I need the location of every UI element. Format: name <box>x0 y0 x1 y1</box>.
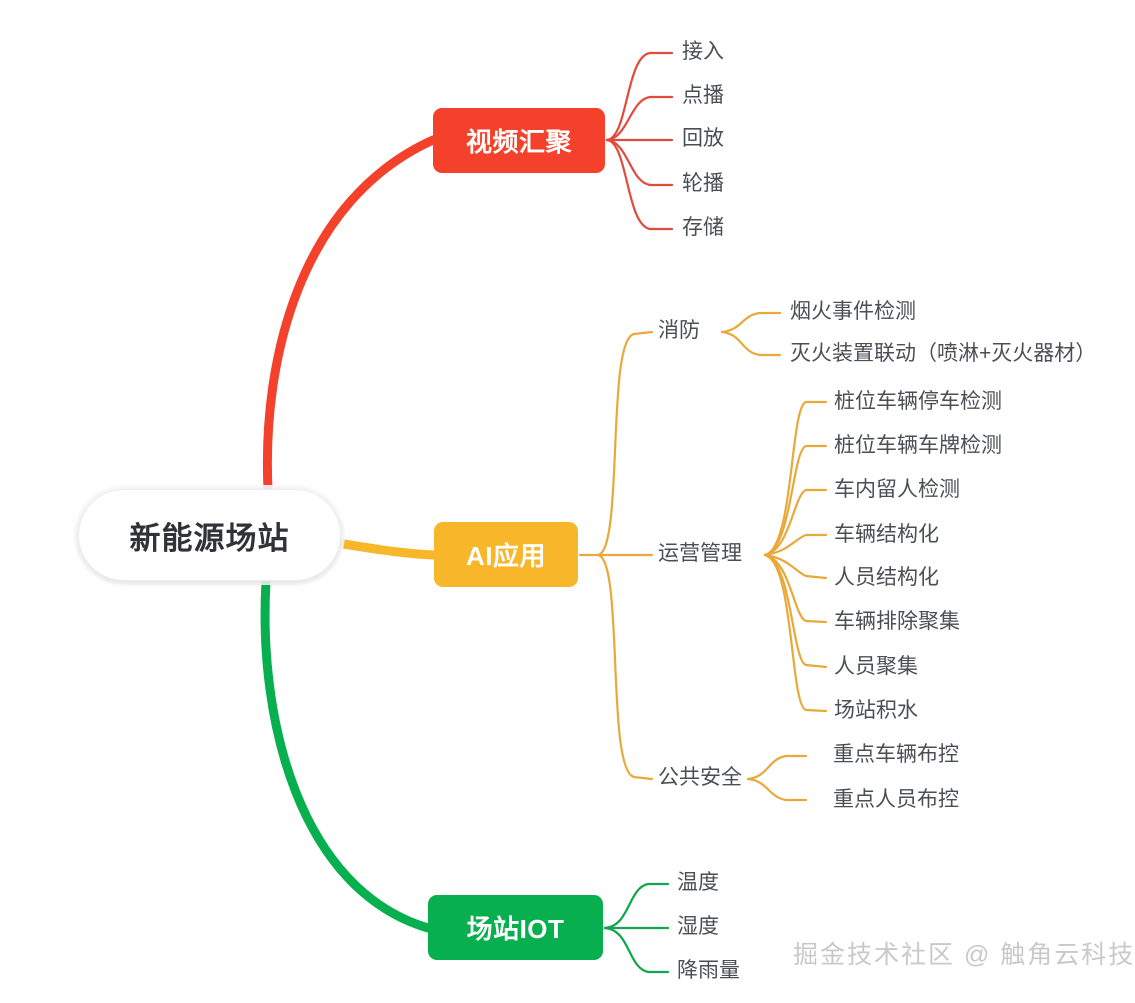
leaf-ops-vehicle-crowding[interactable]: 车辆排除聚集 <box>834 611 960 632</box>
connector-group-ops <box>765 402 826 711</box>
leaf-ops-person-crowding[interactable]: 人员聚集 <box>834 656 918 677</box>
leaf-video-carousel[interactable]: 轮播 <box>682 173 724 194</box>
root-node-label: 新能源场站 <box>130 513 290 558</box>
connector-group-iot <box>605 884 668 972</box>
leaf-ops-person-structuring[interactable]: 人员结构化 <box>834 567 939 588</box>
leaf-iot-humidity[interactable]: 湿度 <box>677 916 719 937</box>
connector-group-publicsafety <box>748 756 806 800</box>
leaf-ops-stall-plate-detection[interactable]: 桩位车辆车牌检测 <box>834 435 1002 456</box>
leaf-fire-suppression-link[interactable]: 灭火装置联动（喷淋+灭火器材） <box>790 343 1096 364</box>
branch-node-video-label: 视频汇聚 <box>466 122 572 159</box>
node-ai-public-safety[interactable]: 公共安全 <box>658 767 742 788</box>
leaf-safety-key-vehicle-control[interactable]: 重点车辆布控 <box>833 744 959 765</box>
branch-node-iot[interactable]: 场站IOT <box>428 895 603 960</box>
leaf-ops-in-car-person-detection[interactable]: 车内留人检测 <box>834 479 960 500</box>
leaf-fire-smoke-detection[interactable]: 烟火事件检测 <box>790 301 916 322</box>
connector-root-to-video <box>267 140 433 489</box>
branch-node-ai[interactable]: AI应用 <box>434 522 578 587</box>
leaf-video-vod[interactable]: 点播 <box>682 85 724 106</box>
leaf-safety-key-person-control[interactable]: 重点人员布控 <box>833 789 959 810</box>
branch-node-iot-label: 场站IOT <box>467 909 565 946</box>
connector-root-to-ai <box>338 543 434 555</box>
leaf-ops-vehicle-structuring[interactable]: 车辆结构化 <box>834 524 939 545</box>
connector-group-video <box>607 53 672 229</box>
root-node[interactable]: 新能源场站 <box>78 489 341 581</box>
mindmap-canvas: 新能源场站 视频汇聚 AI应用 场站IOT 接入 点播 回放 轮播 存储 消防 … <box>0 0 1135 1003</box>
branch-node-video[interactable]: 视频汇聚 <box>433 108 605 173</box>
connector-group-ai <box>580 332 652 779</box>
connector-group-fire <box>722 313 780 355</box>
leaf-video-playback[interactable]: 回放 <box>682 128 724 149</box>
leaf-iot-rainfall[interactable]: 降雨量 <box>677 960 740 981</box>
leaf-ops-stall-parking-detection[interactable]: 桩位车辆停车检测 <box>834 391 1002 412</box>
node-ai-fire[interactable]: 消防 <box>658 320 700 341</box>
watermark-text: 掘金技术社区 @ 触角云科技 <box>793 935 1135 971</box>
leaf-video-storage[interactable]: 存储 <box>682 217 724 238</box>
leaf-video-access[interactable]: 接入 <box>682 41 724 62</box>
leaf-iot-temperature[interactable]: 温度 <box>677 872 719 893</box>
leaf-ops-site-waterlogging[interactable]: 场站积水 <box>834 700 918 721</box>
branch-node-ai-label: AI应用 <box>466 536 546 573</box>
connector-root-to-iot <box>265 582 428 928</box>
node-ai-operations[interactable]: 运营管理 <box>658 543 742 564</box>
